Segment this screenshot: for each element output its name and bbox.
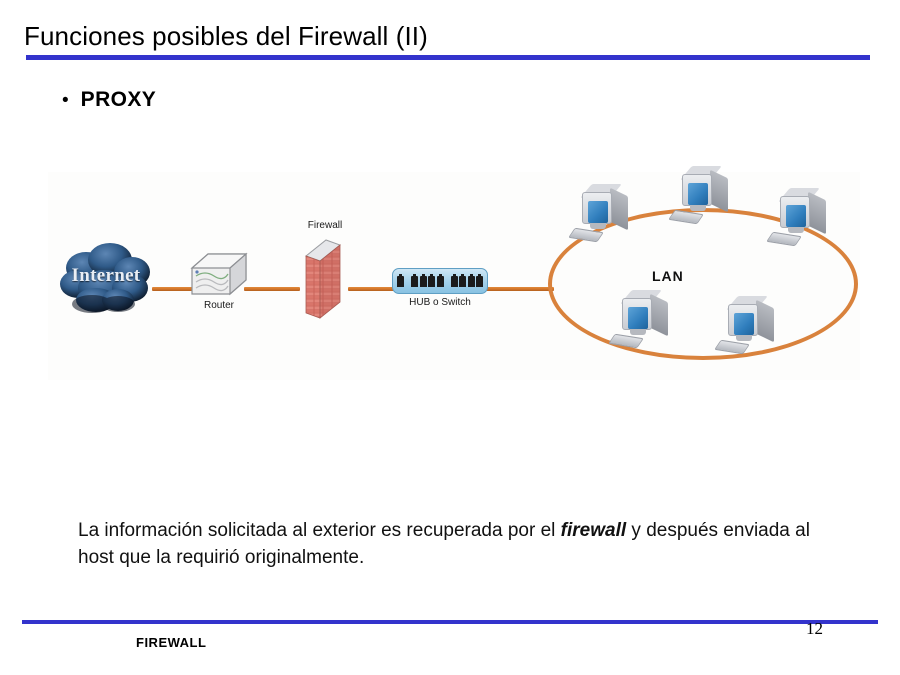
lan-label: LAN	[652, 268, 684, 284]
port-group-1	[397, 276, 404, 287]
monitor-side	[650, 294, 668, 337]
brick-wall-icon	[296, 236, 354, 324]
internet-cloud-node: Internet	[56, 234, 156, 318]
port-group-2	[411, 276, 444, 287]
ethernet-port-icon	[428, 276, 435, 287]
hub-chassis	[392, 268, 488, 294]
workstation	[726, 300, 784, 362]
bullet-marker-icon: •	[62, 91, 69, 110]
ethernet-port-icon	[411, 276, 418, 287]
body-paragraph: La información solicitada al exterior es…	[78, 518, 850, 572]
monitor-face	[622, 298, 652, 330]
ethernet-port-icon	[476, 276, 483, 287]
body-text-emphasis: firewall	[561, 520, 626, 541]
port-group-3	[451, 276, 484, 287]
ethernet-port-icon	[451, 276, 458, 287]
monitor-side	[710, 170, 728, 213]
link-hub-lan	[486, 287, 554, 291]
monitor-side	[756, 300, 774, 343]
workstation	[580, 188, 638, 250]
monitor-screen	[688, 183, 708, 205]
hub-switch-node: HUB o Switch	[392, 268, 492, 312]
monitor-screen	[588, 201, 608, 223]
ethernet-port-icon	[420, 276, 427, 287]
router-label: Router	[188, 300, 250, 311]
footer-label: FIREWALL	[136, 635, 206, 650]
page-number: 12	[806, 619, 823, 639]
monitor-side	[808, 192, 826, 235]
internet-label: Internet	[56, 265, 156, 287]
workstation	[680, 170, 738, 232]
workstation	[778, 192, 836, 254]
firewall-label: Firewall	[294, 220, 356, 231]
monitor-stand	[590, 223, 606, 229]
monitor-screen	[734, 313, 754, 335]
network-diagram: Internet Router Firewall	[48, 172, 860, 380]
monitor-side	[610, 188, 628, 231]
monitor-stand	[690, 205, 706, 211]
ethernet-port-icon	[437, 276, 444, 287]
footer-divider	[22, 620, 878, 624]
monitor-face	[582, 192, 612, 224]
firewall-node: Firewall	[296, 220, 354, 324]
monitor-stand	[736, 335, 752, 341]
ethernet-port-icon	[397, 276, 404, 287]
monitor-screen	[786, 205, 806, 227]
bullet-item-proxy: • PROXY	[62, 88, 156, 112]
bullet-item-label: PROXY	[81, 88, 157, 112]
body-text-before: La información solicitada al exterior es…	[78, 520, 561, 541]
link-router-firewall	[244, 287, 300, 291]
ethernet-port-icon	[459, 276, 466, 287]
workstation	[620, 294, 678, 356]
monitor-face	[728, 304, 758, 336]
title-divider	[26, 55, 870, 60]
ethernet-port-icon	[468, 276, 475, 287]
monitor-face	[780, 196, 810, 228]
router-node: Router	[188, 250, 250, 312]
hub-switch-label: HUB o Switch	[392, 297, 488, 308]
monitor-screen	[628, 307, 648, 329]
page-title: Funciones posibles del Firewall (II)	[24, 21, 428, 52]
monitor-stand	[788, 227, 804, 233]
link-firewall-hub	[348, 287, 396, 291]
monitor-face	[682, 174, 712, 206]
keyboard	[568, 228, 604, 242]
monitor-stand	[630, 329, 646, 335]
router-icon	[188, 250, 250, 298]
